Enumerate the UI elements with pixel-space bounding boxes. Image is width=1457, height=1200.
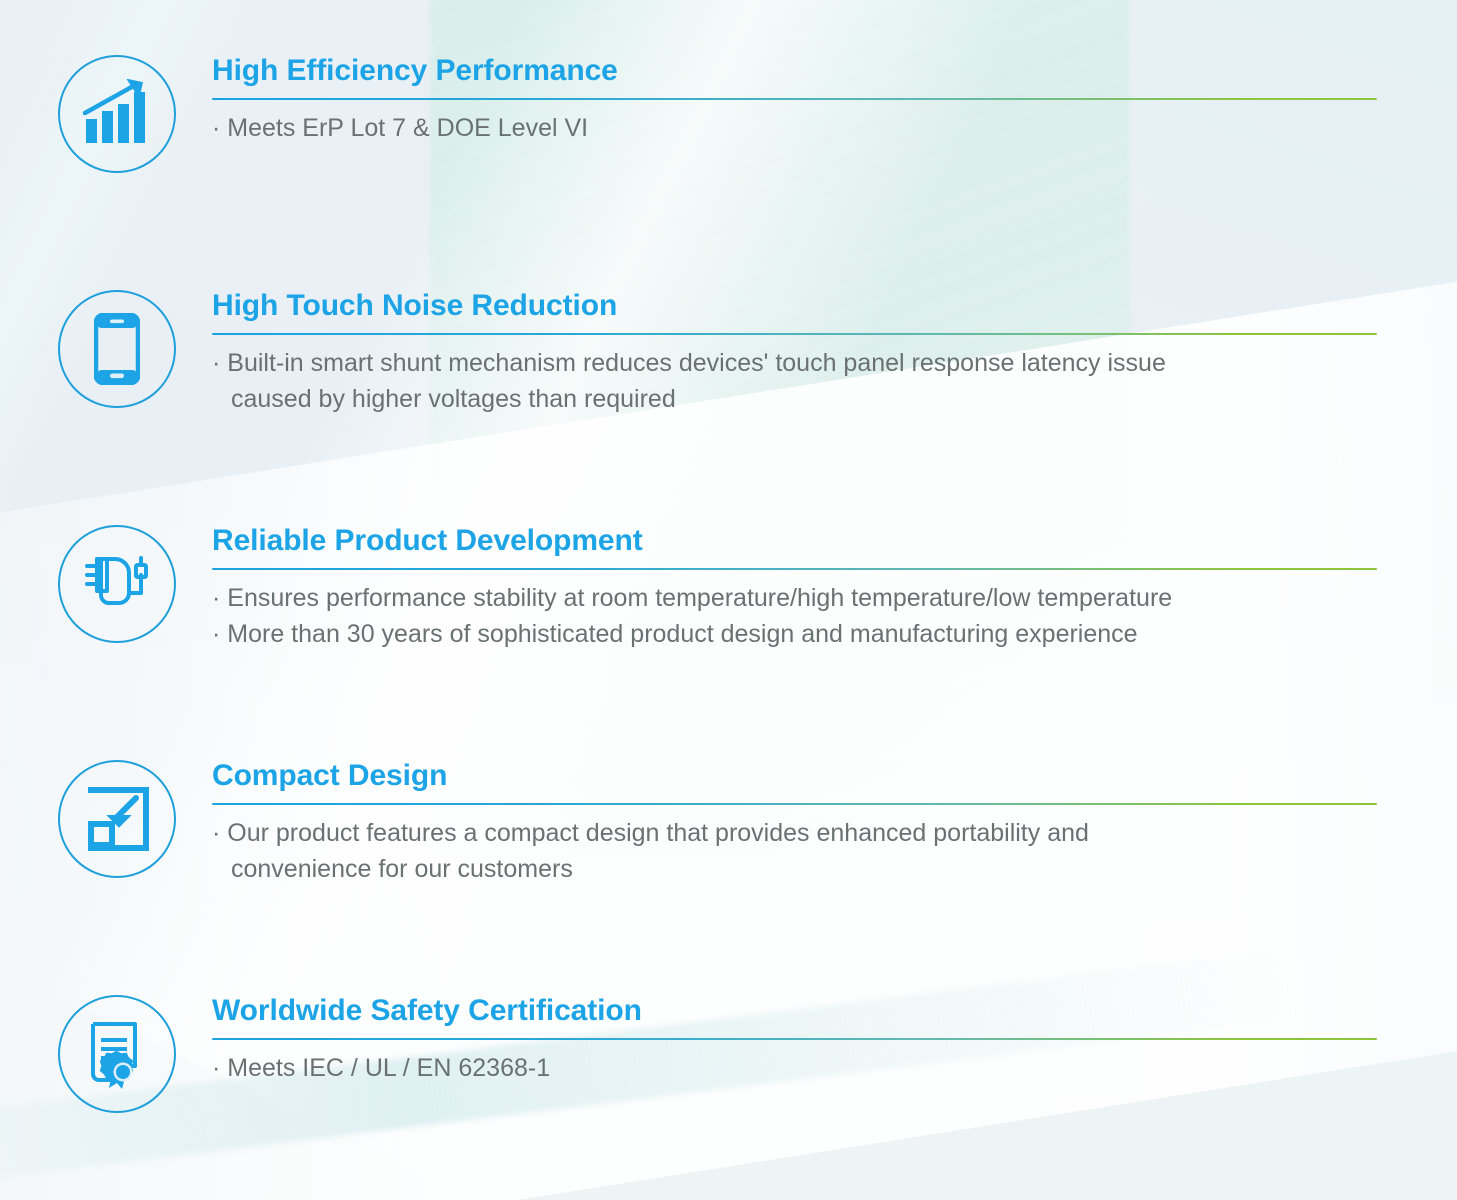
feature-bullets: · Our product features a compact design … [212, 816, 1384, 887]
feature-icon-wrapper [58, 290, 176, 408]
bullet-marker: · [212, 620, 220, 648]
bullet-text: Ensures performance stability at room te… [227, 584, 1172, 612]
power-adapter-icon [58, 525, 176, 643]
bar-chart-growth-icon [58, 55, 176, 173]
feature-body: High Efficiency Performance · Meets ErP … [212, 55, 1384, 147]
feature-body: Compact Design · Our product features a … [212, 760, 1384, 887]
feature-divider [212, 98, 1377, 101]
feature-body: Worldwide Safety Certification · Meets I… [212, 995, 1384, 1087]
feature-title: High Efficiency Performance [212, 55, 1384, 87]
bullet-item: · Built-in smart shunt mechanism reduces… [212, 346, 1384, 417]
feature-title: High Touch Noise Reduction [212, 290, 1384, 322]
feature-icon-wrapper [58, 995, 176, 1113]
bullet-marker: · [212, 1054, 220, 1082]
feature-body: High Touch Noise Reduction · Built-in sm… [212, 290, 1384, 417]
bullet-marker: · [212, 819, 220, 847]
feature-title: Worldwide Safety Certification [212, 995, 1384, 1027]
feature-divider [212, 333, 1377, 336]
compact-resize-icon [58, 760, 176, 878]
bullet-item: · Our product features a compact design … [212, 816, 1384, 887]
bullet-text-continuation: convenience for our customers [212, 852, 1384, 888]
bullet-marker: · [212, 349, 220, 377]
feature-divider [212, 803, 1377, 806]
feature-bullets: · Ensures performance stability at room … [212, 581, 1384, 652]
feature-divider [212, 568, 1377, 571]
bullet-text: Built-in smart shunt mechanism reduces d… [227, 349, 1166, 377]
bullet-item: · More than 30 years of sophisticated pr… [212, 617, 1384, 653]
bullet-item: · Meets IEC / UL / EN 62368-1 [212, 1051, 1384, 1087]
bullet-text: Meets IEC / UL / EN 62368-1 [227, 1054, 550, 1082]
bullet-text: Meets ErP Lot 7 & DOE Level VI [227, 114, 588, 142]
bullet-text: Our product features a compact design th… [227, 819, 1089, 847]
feature-icon-wrapper [58, 55, 176, 173]
smartphone-icon [58, 290, 176, 408]
bullet-item: · Meets ErP Lot 7 & DOE Level VI [212, 111, 1384, 147]
certificate-seal-icon [58, 995, 176, 1113]
feature-icon-wrapper [58, 760, 176, 878]
feature-title: Compact Design [212, 760, 1384, 792]
bullet-item: · Ensures performance stability at room … [212, 581, 1384, 617]
feature-bullets: · Built-in smart shunt mechanism reduces… [212, 346, 1384, 417]
feature-bullets: · Meets IEC / UL / EN 62368-1 [212, 1051, 1384, 1087]
feature-bullets: · Meets ErP Lot 7 & DOE Level VI [212, 111, 1384, 147]
feature-divider [212, 1038, 1377, 1041]
bullet-text-continuation: caused by higher voltages than required [212, 382, 1384, 418]
feature-icon-wrapper [58, 525, 176, 643]
bullet-text: More than 30 years of sophisticated prod… [227, 620, 1137, 648]
feature-highlights-page: High Efficiency Performance · Meets ErP … [0, 0, 1457, 1200]
bullet-marker: · [212, 114, 220, 142]
bullet-marker: · [212, 584, 220, 612]
feature-title: Reliable Product Development [212, 525, 1384, 557]
feature-body: Reliable Product Development · Ensures p… [212, 525, 1384, 652]
